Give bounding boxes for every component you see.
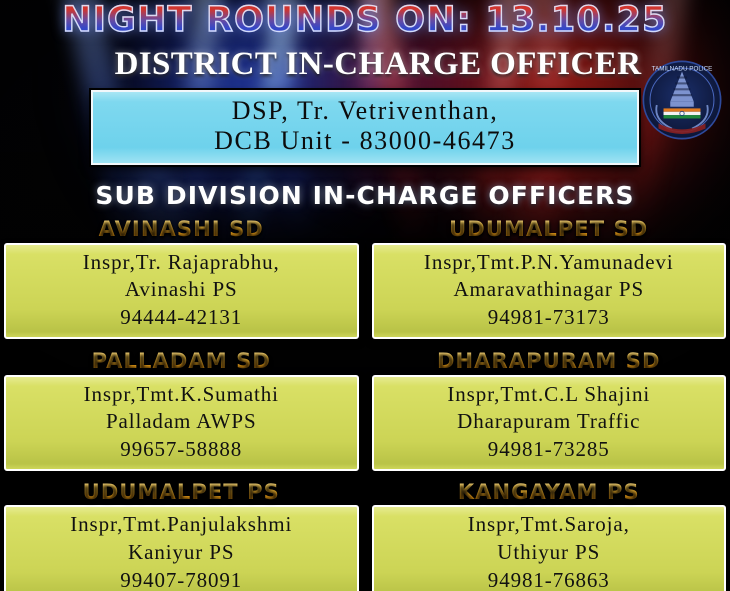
phone-number: 99657-58888 — [11, 436, 352, 464]
sd-row-2: PALLADAM SD Inspr,Tmt.K.Sumathi Palladam… — [4, 349, 726, 471]
dsp-name-line: DSP, Tr. Vetriventhan, — [99, 96, 631, 127]
phone-number: 99407-78091 — [11, 567, 352, 591]
phone-number: 94981-73173 — [379, 304, 720, 332]
night-rounds-poster: NIGHT ROUNDS ON: 13.10.25 DISTRICT IN-CH… — [0, 0, 730, 591]
sd-label-udumalpet-sd: UDUMALPET SD — [372, 217, 727, 243]
officer-name: Inspr,Tmt.K.Sumathi — [11, 381, 352, 409]
sd-label-avinashi: AVINASHI SD — [4, 217, 359, 243]
info-card-udumalpet-sd: Inspr,Tmt.P.N.Yamunadevi Amaravathinagar… — [372, 243, 727, 339]
district-officer-card: DSP, Tr. Vetriventhan, DCB Unit - 83000-… — [91, 90, 639, 165]
station-name: Kaniyur PS — [11, 539, 352, 567]
district-officer-heading: DISTRICT IN-CHARGE OFFICER — [115, 46, 642, 83]
tamilnadu-police-emblem-icon: TAMILNADU POLICE — [640, 58, 724, 142]
sd-row-1: AVINASHI SD Inspr,Tr. Rajaprabhu, Avinas… — [4, 217, 726, 339]
station-name: Avinashi PS — [11, 276, 352, 304]
sd-label-palladam: PALLADAM SD — [4, 349, 359, 375]
sd-label-kangayam: KANGAYAM PS — [372, 480, 727, 506]
info-card-udumalpet-ps: Inspr,Tmt.Panjulakshmi Kaniyur PS 99407-… — [4, 505, 359, 591]
sub-division-heading: SUB DIVISION IN-CHARGE OFFICERS — [0, 181, 730, 210]
emblem-top-text: TAMILNADU POLICE — [652, 66, 713, 73]
officer-name: Inspr,Tmt.C.L Shajini — [379, 381, 720, 409]
sd-cell-avinashi: AVINASHI SD Inspr,Tr. Rajaprabhu, Avinas… — [4, 217, 359, 339]
page-title: NIGHT ROUNDS ON: 13.10.25 — [0, 1, 730, 40]
officer-name: Inspr,Tmt.Panjulakshmi — [11, 511, 352, 539]
info-card-dharapuram: Inspr,Tmt.C.L Shajini Dharapuram Traffic… — [372, 375, 727, 471]
dsp-unit-line: DCB Unit - 83000-46473 — [99, 126, 631, 157]
station-name: Palladam AWPS — [11, 408, 352, 436]
sd-cell-kangayam: KANGAYAM PS Inspr,Tmt.Saroja, Uthiyur PS… — [372, 480, 727, 591]
officer-name: Inspr,Tmt.Saroja, — [379, 511, 720, 539]
station-name: Dharapuram Traffic — [379, 408, 720, 436]
sd-cell-udumalpet-sd: UDUMALPET SD Inspr,Tmt.P.N.Yamunadevi Am… — [372, 217, 727, 339]
phone-number: 94444-42131 — [11, 304, 352, 332]
info-card-palladam: Inspr,Tmt.K.Sumathi Palladam AWPS 99657-… — [4, 375, 359, 471]
officer-name: Inspr,Tr. Rajaprabhu, — [11, 249, 352, 277]
station-name: Uthiyur PS — [379, 539, 720, 567]
phone-number: 94981-76863 — [379, 567, 720, 591]
sub-division-grid: AVINASHI SD Inspr,Tr. Rajaprabhu, Avinas… — [0, 217, 730, 591]
sd-cell-udumalpet-ps: UDUMALPET PS Inspr,Tmt.Panjulakshmi Kani… — [4, 480, 359, 591]
officer-name: Inspr,Tmt.P.N.Yamunadevi — [379, 249, 720, 277]
row-gap — [4, 471, 726, 480]
sd-cell-dharapuram: DHARAPURAM SD Inspr,Tmt.C.L Shajini Dhar… — [372, 349, 727, 471]
sd-row-3: UDUMALPET PS Inspr,Tmt.Panjulakshmi Kani… — [4, 480, 726, 591]
sd-label-udumalpet-ps: UDUMALPET PS — [4, 480, 359, 506]
info-card-kangayam: Inspr,Tmt.Saroja, Uthiyur PS 94981-76863 — [372, 505, 727, 591]
sd-label-dharapuram: DHARAPURAM SD — [372, 349, 727, 375]
station-name: Amaravathinagar PS — [379, 276, 720, 304]
row-gap — [4, 339, 726, 349]
phone-number: 94981-73285 — [379, 436, 720, 464]
sd-cell-palladam: PALLADAM SD Inspr,Tmt.K.Sumathi Palladam… — [4, 349, 359, 471]
district-title-row: DISTRICT IN-CHARGE OFFICER — [0, 46, 730, 83]
info-card-avinashi: Inspr,Tr. Rajaprabhu, Avinashi PS 94444-… — [4, 243, 359, 339]
